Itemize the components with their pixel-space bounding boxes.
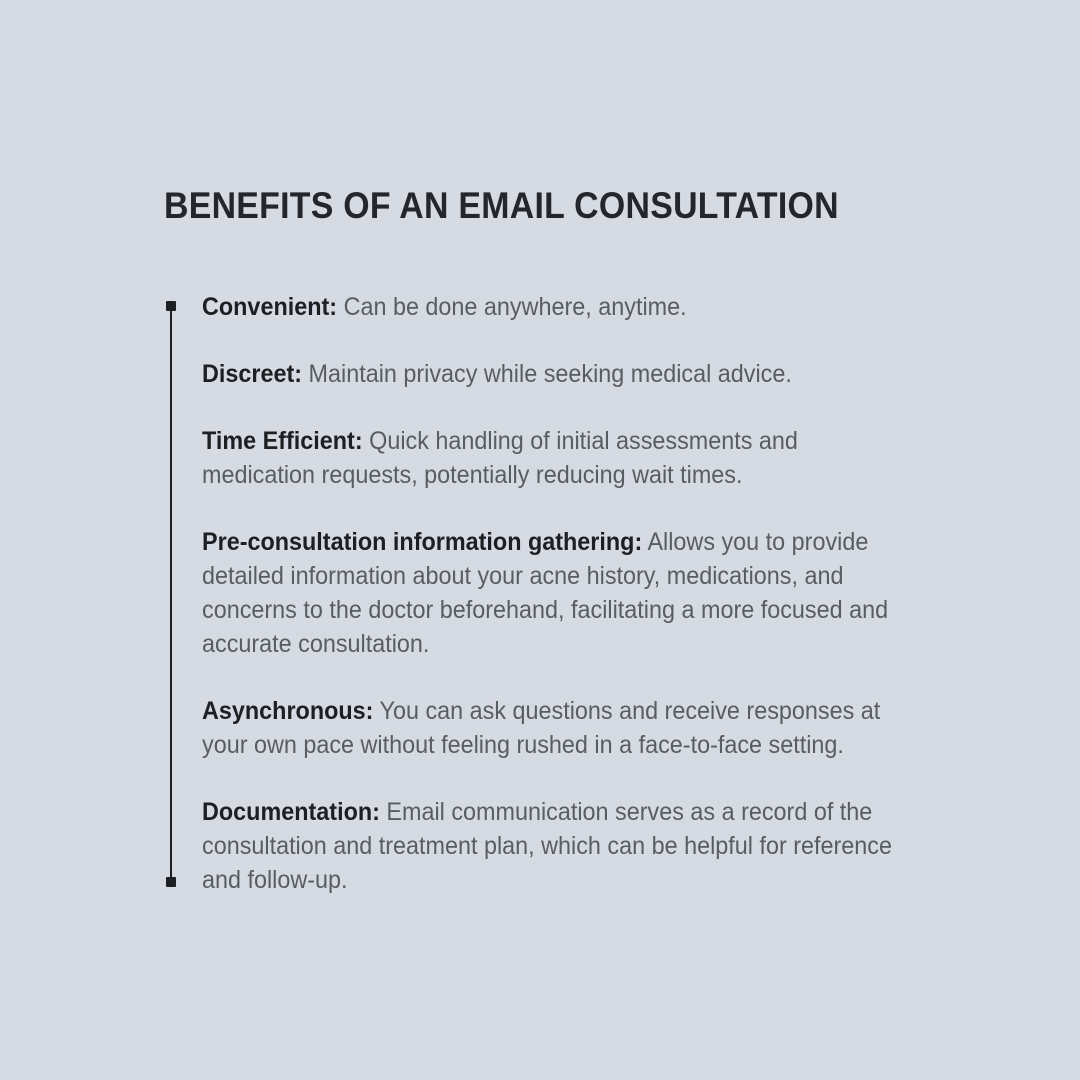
list-item: Time Efficient: Quick handling of initia… (202, 424, 913, 492)
timeline-rule (165, 306, 177, 882)
benefit-term: Discreet: (202, 360, 302, 388)
benefit-term: Documentation: (202, 798, 380, 826)
benefits-list: Convenient: Can be done anywhere, anytim… (202, 290, 962, 897)
benefit-description: Can be done anywhere, anytime. (344, 293, 687, 321)
list-item: Pre-consultation information gathering: … (202, 525, 913, 661)
list-item: Asynchronous: You can ask questions and … (202, 694, 913, 762)
benefit-term: Pre-consultation information gathering: (202, 528, 642, 556)
benefit-term: Asynchronous: (202, 697, 373, 725)
page-title: BENEFITS OF AN EMAIL CONSULTATION (164, 184, 914, 228)
timeline-line (170, 306, 172, 882)
benefit-term: Convenient: (202, 293, 337, 321)
slide-canvas: BENEFITS OF AN EMAIL CONSULTATION Conven… (0, 0, 1080, 1080)
list-item: Convenient: Can be done anywhere, anytim… (202, 290, 913, 324)
timeline-end-dot-icon (166, 877, 176, 887)
list-item: Documentation: Email communication serve… (202, 795, 913, 897)
benefit-term: Time Efficient: (202, 427, 363, 455)
benefit-description: Maintain privacy while seeking medical a… (309, 360, 792, 388)
list-item: Discreet: Maintain privacy while seeking… (202, 357, 913, 391)
